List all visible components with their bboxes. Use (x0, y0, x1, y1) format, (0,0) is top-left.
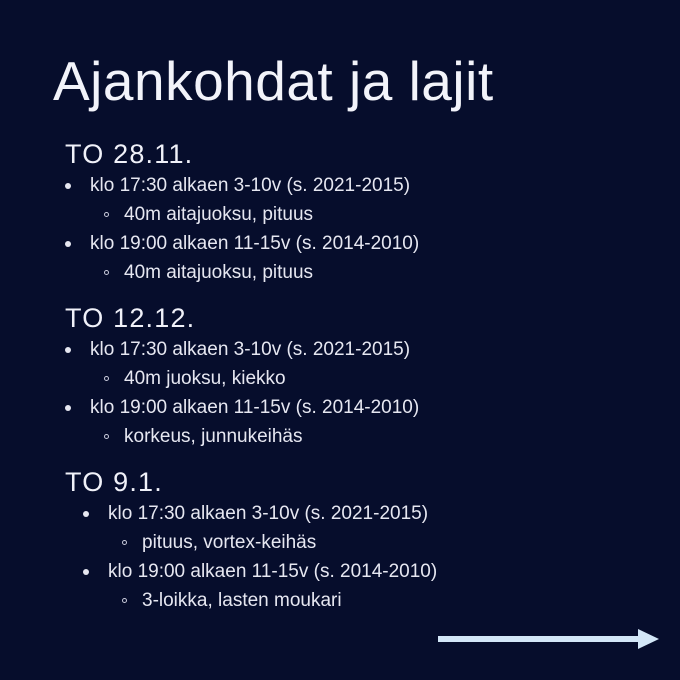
list-item-time: klo 17:30 alkaen 3-10v (s. 2021-2015) (0, 335, 680, 364)
section-1-bullet-list: klo 17:30 alkaen 3-10v (s. 2021-2015) 40… (0, 171, 680, 287)
slide-canvas: Ajankohdat ja lajit TO 28.11. klo 17:30 … (0, 0, 680, 680)
list-item-events: korkeus, junnukeihäs (0, 422, 680, 451)
schedule-section-1: TO 28.11. klo 17:30 alkaen 3-10v (s. 202… (0, 138, 680, 287)
section-3-bullet-list: klo 17:30 alkaen 3-10v (s. 2021-2015) pi… (0, 499, 680, 615)
list-item-events: 40m juoksu, kiekko (0, 364, 680, 393)
list-item-time: klo 19:00 alkaen 11-15v (s. 2014-2010) (0, 557, 680, 586)
arrow-right-icon (438, 626, 660, 652)
schedule-section-3: TO 9.1. klo 17:30 alkaen 3-10v (s. 2021-… (0, 466, 680, 615)
section-heading-1: TO 28.11. (0, 138, 680, 171)
list-item-events: pituus, vortex-keihäs (0, 528, 680, 557)
list-item-events: 40m aitajuoksu, pituus (0, 258, 680, 287)
section-heading-2: TO 12.12. (0, 302, 680, 335)
section-heading-3: TO 9.1. (0, 466, 680, 499)
schedule-section-2: TO 12.12. klo 17:30 alkaen 3-10v (s. 202… (0, 302, 680, 451)
list-item-time: klo 19:00 alkaen 11-15v (s. 2014-2010) (0, 393, 680, 422)
list-item-events: 40m aitajuoksu, pituus (0, 200, 680, 229)
page-title: Ajankohdat ja lajit (53, 50, 494, 112)
list-item-time: klo 17:30 alkaen 3-10v (s. 2021-2015) (0, 499, 680, 528)
arrow-right-icon-svg (438, 626, 660, 652)
section-2-bullet-list: klo 17:30 alkaen 3-10v (s. 2021-2015) 40… (0, 335, 680, 451)
list-item-time: klo 19:00 alkaen 11-15v (s. 2014-2010) (0, 229, 680, 258)
schedule-content: TO 28.11. klo 17:30 alkaen 3-10v (s. 202… (0, 138, 680, 630)
list-item-time: klo 17:30 alkaen 3-10v (s. 2021-2015) (0, 171, 680, 200)
list-item-events: 3-loikka, lasten moukari (0, 586, 680, 615)
